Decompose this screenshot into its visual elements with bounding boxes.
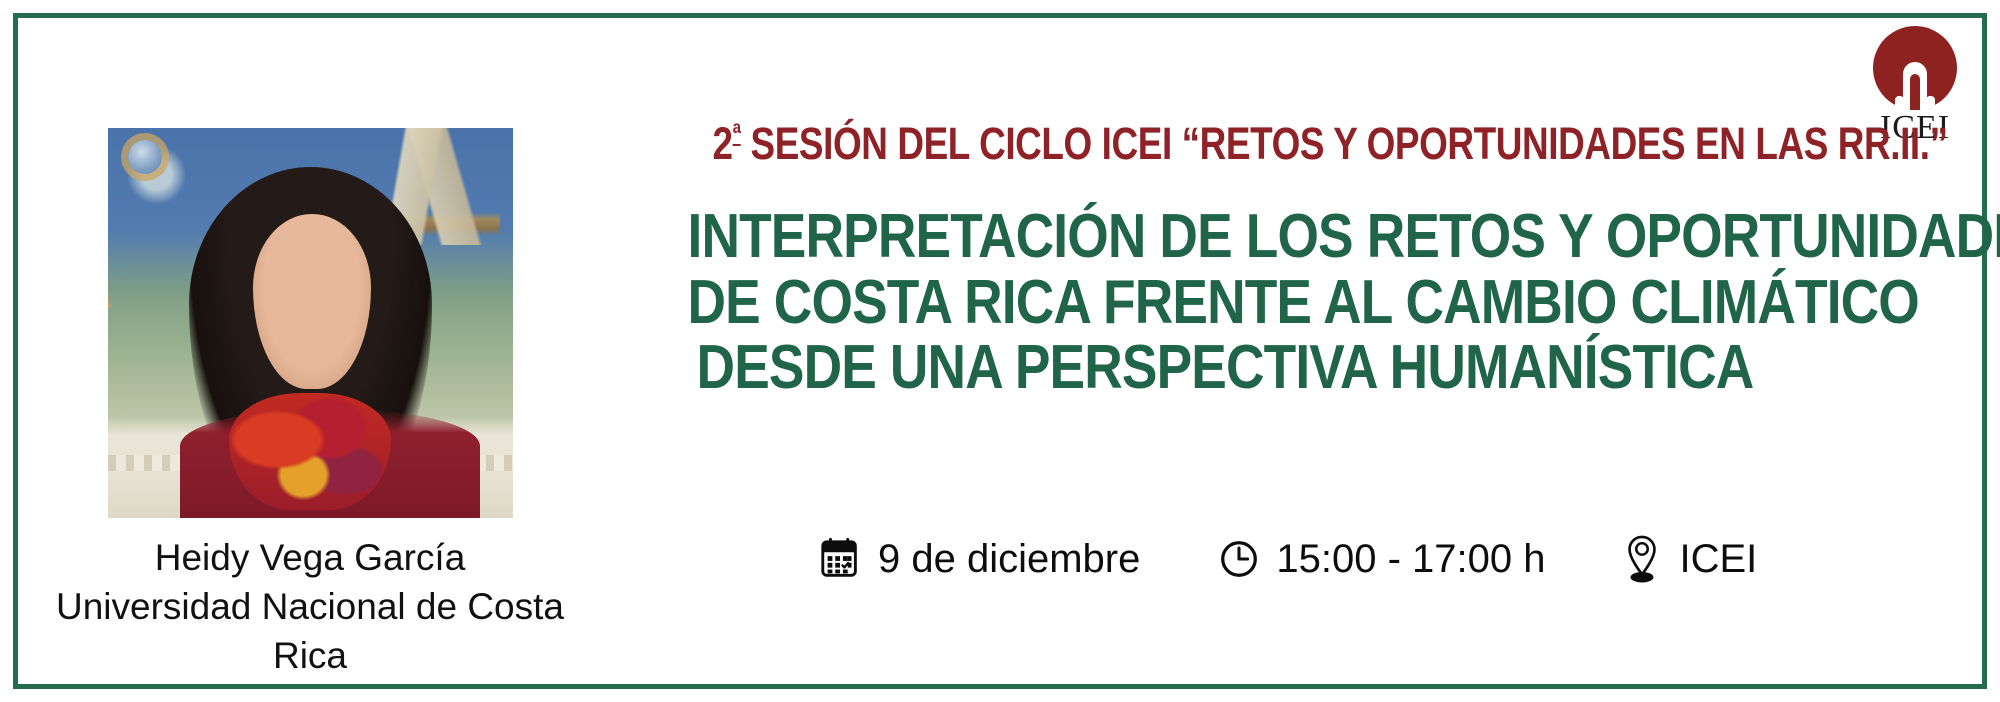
event-time-label: 15:00 - 17:00 h [1276, 539, 1545, 579]
logo-arch-inner-shape [1910, 74, 1920, 110]
title-line-1: INTERPRETACIÓN DE LOS RETOS Y OPORTUNIDA… [688, 204, 1763, 270]
event-banner: ICEI Heidy Vega García Universidad Nacio… [0, 0, 2000, 702]
title-line-3: DESDE UNA PERSPECTIVA HUMANÍSTICA [688, 335, 1763, 401]
logo-foot-right-shape [1926, 96, 1935, 110]
event-place: ICEI [1619, 533, 1757, 585]
photo-face [253, 214, 370, 390]
session-eyebrow: 2ª SESIÓN DEL CICLO ICEI “RETOS Y OPORTU… [713, 120, 1738, 166]
event-time: 15:00 - 17:00 h [1216, 536, 1545, 582]
eyebrow-number: 2 [713, 118, 733, 169]
calendar-icon [818, 536, 864, 582]
logo-foot-left-shape [1895, 96, 1904, 110]
event-place-label: ICEI [1679, 539, 1757, 579]
event-info-row: 9 de diciembre 15:00 - 17:00 h ICEI [600, 533, 1880, 585]
speaker-photo [108, 128, 513, 518]
speaker-block: Heidy Vega García Universidad Nacional d… [40, 128, 580, 680]
photo-scarf [229, 393, 391, 510]
clock-icon [1216, 536, 1262, 582]
event-date: 9 de diciembre [818, 536, 1140, 582]
event-date-label: 9 de diciembre [878, 539, 1140, 579]
eyebrow-rest: SESIÓN DEL CICLO ICEI “RETOS Y OPORTUNID… [741, 118, 1948, 169]
speaker-name: Heidy Vega García [40, 534, 580, 583]
location-pin-icon [1619, 533, 1665, 585]
content-column: 2ª SESIÓN DEL CICLO ICEI “RETOS Y OPORTU… [600, 120, 1850, 401]
icei-arch-logo-icon [1865, 26, 1965, 110]
title-line-2: DE COSTA RICA FRENTE AL CAMBIO CLIMÁTICO [688, 270, 1763, 336]
speaker-affiliation: Universidad Nacional de Costa Rica [40, 583, 580, 681]
photo-map-sun [128, 140, 162, 174]
page-title: INTERPRETACIÓN DE LOS RETOS Y OPORTUNIDA… [600, 204, 1850, 401]
